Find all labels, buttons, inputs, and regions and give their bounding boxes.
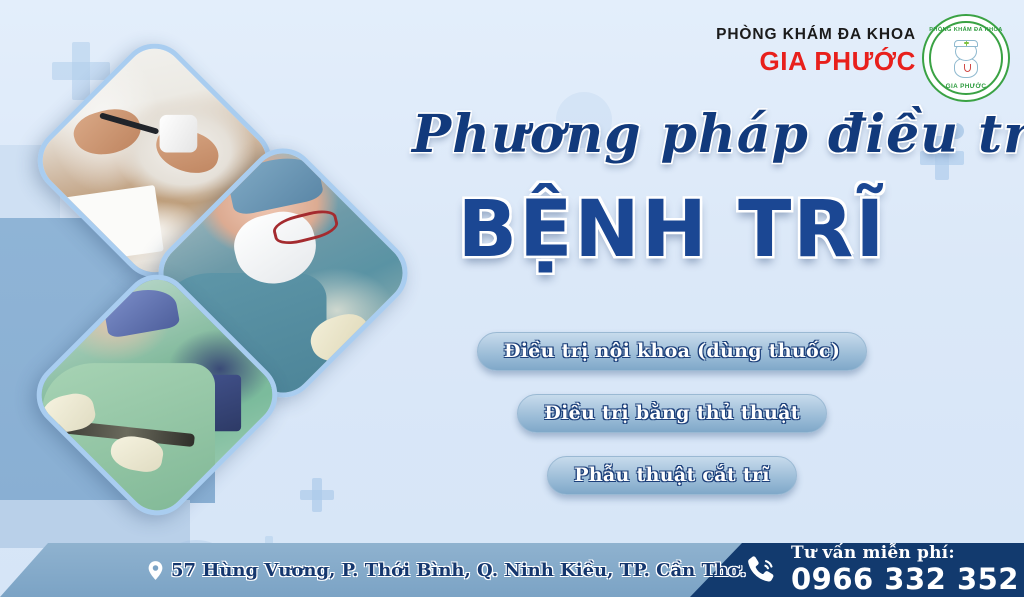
treatment-pill[interactable]: Điều trị nội khoa (dùng thuốc) bbox=[477, 332, 867, 371]
address-text: 57 Hùng Vương, P. Thới Bình, Q. Ninh Kiề… bbox=[171, 560, 746, 581]
footer-bar: 57 Hùng Vương, P. Thới Bình, Q. Ninh Kiề… bbox=[0, 543, 1024, 597]
map-pin-icon bbox=[148, 561, 163, 580]
mascot-icon bbox=[946, 40, 986, 80]
consult-label: Tư vấn miễn phí: bbox=[791, 545, 1019, 563]
phone-call-icon bbox=[745, 553, 779, 587]
clinic-name-label: GIA PHƯỚC bbox=[716, 47, 916, 76]
clinic-promo-banner: PHÒNG KHÁM ĐA KHOA GIA PHƯỚC PHÒNG KHÁM … bbox=[0, 0, 1024, 597]
headline-script: Phương pháp điều trị bbox=[412, 104, 912, 165]
logo-arc-bottom-text: GIA PHƯỚC bbox=[924, 83, 1008, 90]
treatment-pill[interactable]: Điều trị bằng thủ thuật bbox=[517, 394, 827, 433]
clinic-logo: PHÒNG KHÁM ĐA KHOA GIA PHƯỚC bbox=[922, 14, 1010, 102]
headline-main: BỆNH TRĨ bbox=[412, 185, 932, 275]
treatment-list: Điều trị nội khoa (dùng thuốc) Điều trị … bbox=[412, 332, 932, 518]
treatment-pill[interactable]: Phẫu thuật cắt trĩ bbox=[547, 456, 797, 495]
brand-header: PHÒNG KHÁM ĐA KHOA GIA PHƯỚC bbox=[716, 26, 916, 76]
contact-block[interactable]: Tư vấn miễn phí: 0966 332 352 bbox=[745, 543, 1019, 597]
medical-cross-icon bbox=[300, 478, 334, 512]
clinic-type-label: PHÒNG KHÁM ĐA KHOA bbox=[716, 26, 916, 43]
address-block: 57 Hùng Vương, P. Thới Bình, Q. Ninh Kiề… bbox=[148, 543, 746, 597]
logo-arc-top-text: PHÒNG KHÁM ĐA KHOA bbox=[924, 27, 1008, 33]
phone-number[interactable]: 0966 332 352 bbox=[791, 564, 1019, 594]
